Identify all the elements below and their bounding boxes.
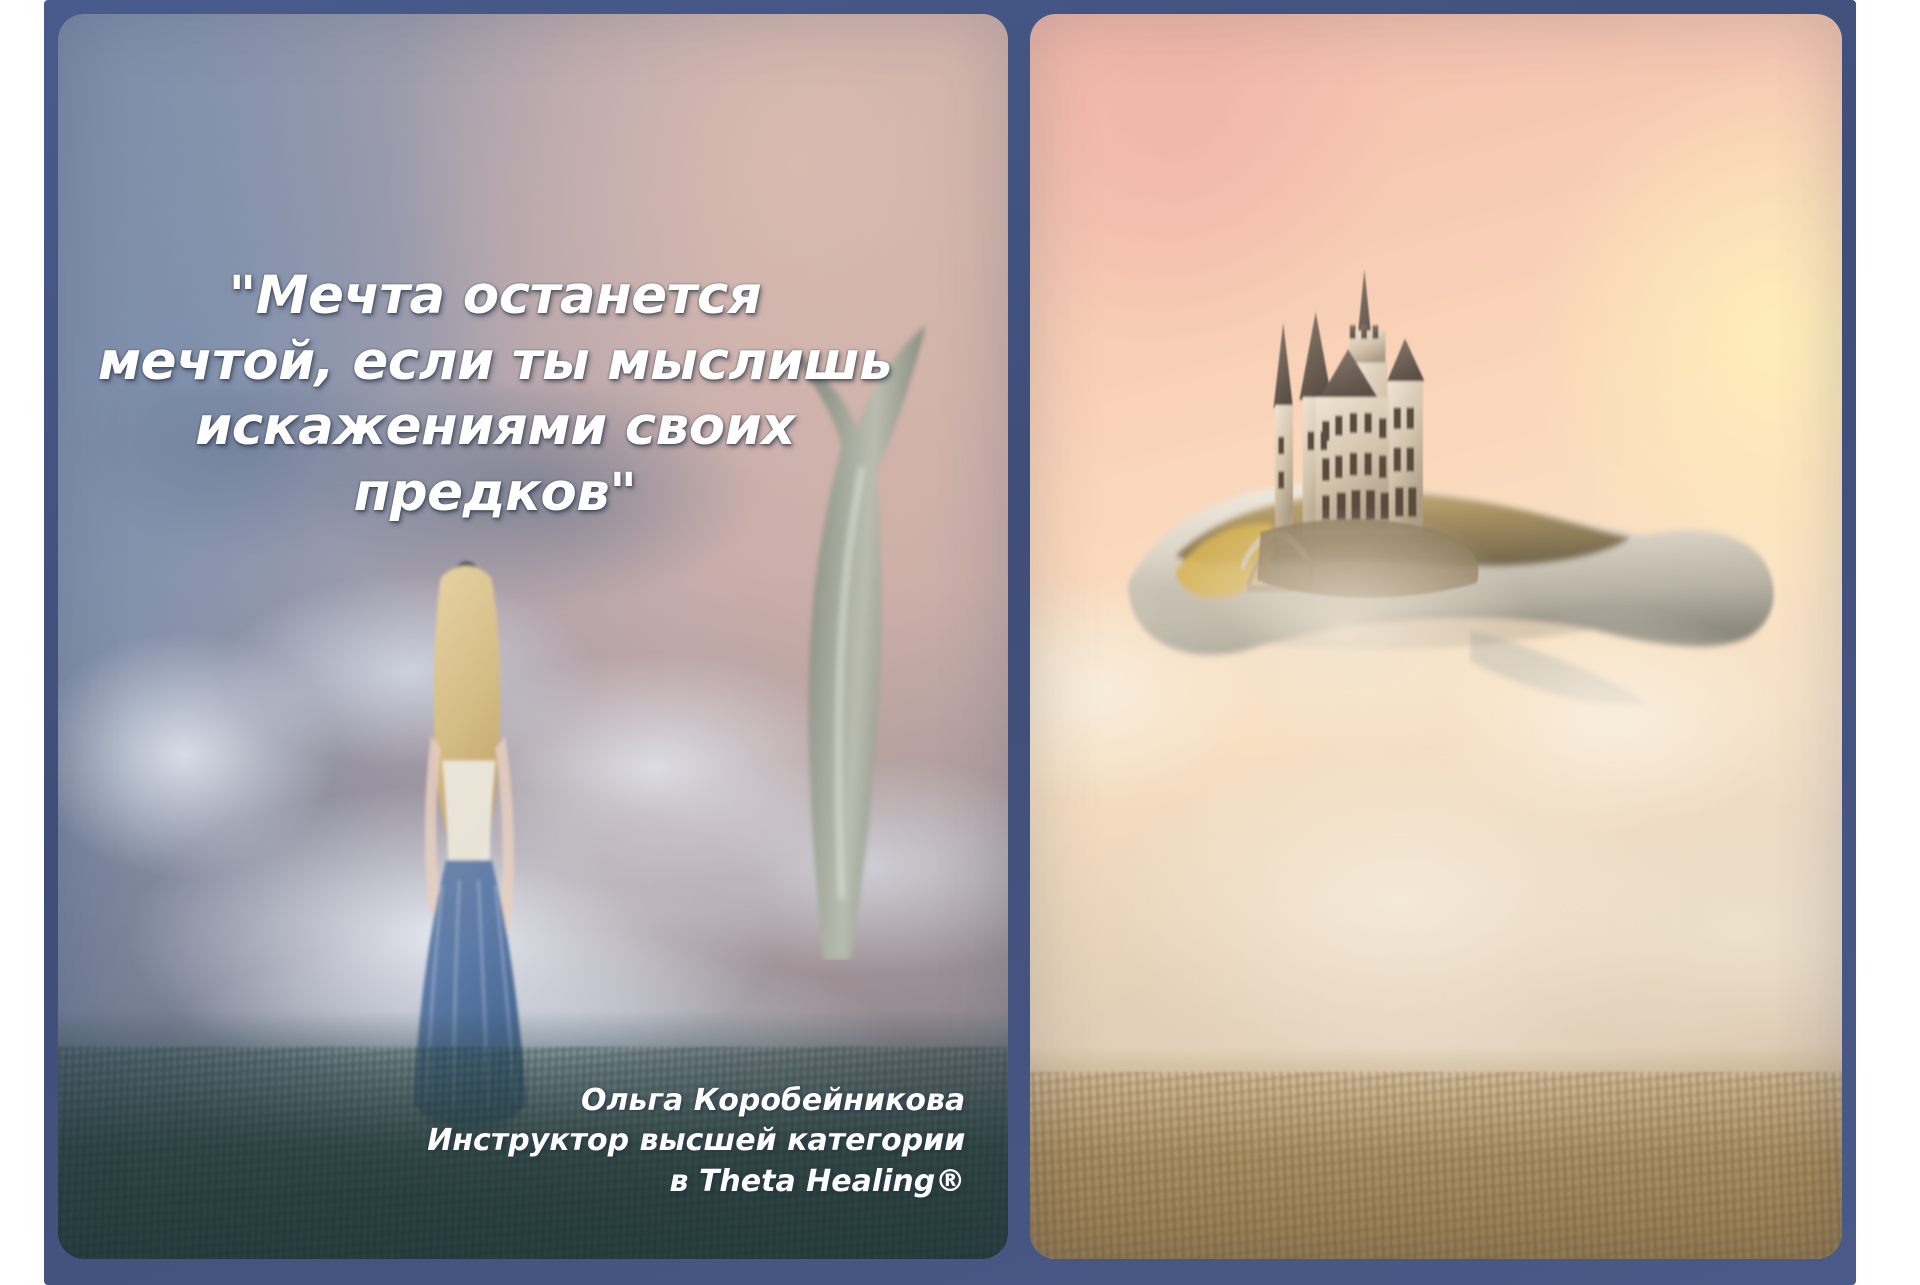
attribution-company: в Theta Healing® <box>427 1162 965 1203</box>
quote-panel: "Мечта останется мечтой, если ты мыслишь… <box>58 14 1008 1259</box>
attribution-author: Ольга Коробейникова <box>427 1081 965 1122</box>
poster-frame: "Мечта останется мечтой, если ты мыслишь… <box>44 0 1856 1285</box>
attribution-title: Инструктор высшей категории <box>427 1121 965 1162</box>
attribution-block: Ольга Коробейникова Инструктор высшей ка… <box>427 1081 965 1203</box>
quote-text: "Мечта останется мечтой, если ты мыслишь… <box>96 263 894 526</box>
castle-whale-panel <box>1030 14 1842 1259</box>
right-field-texture <box>1030 1072 1842 1259</box>
